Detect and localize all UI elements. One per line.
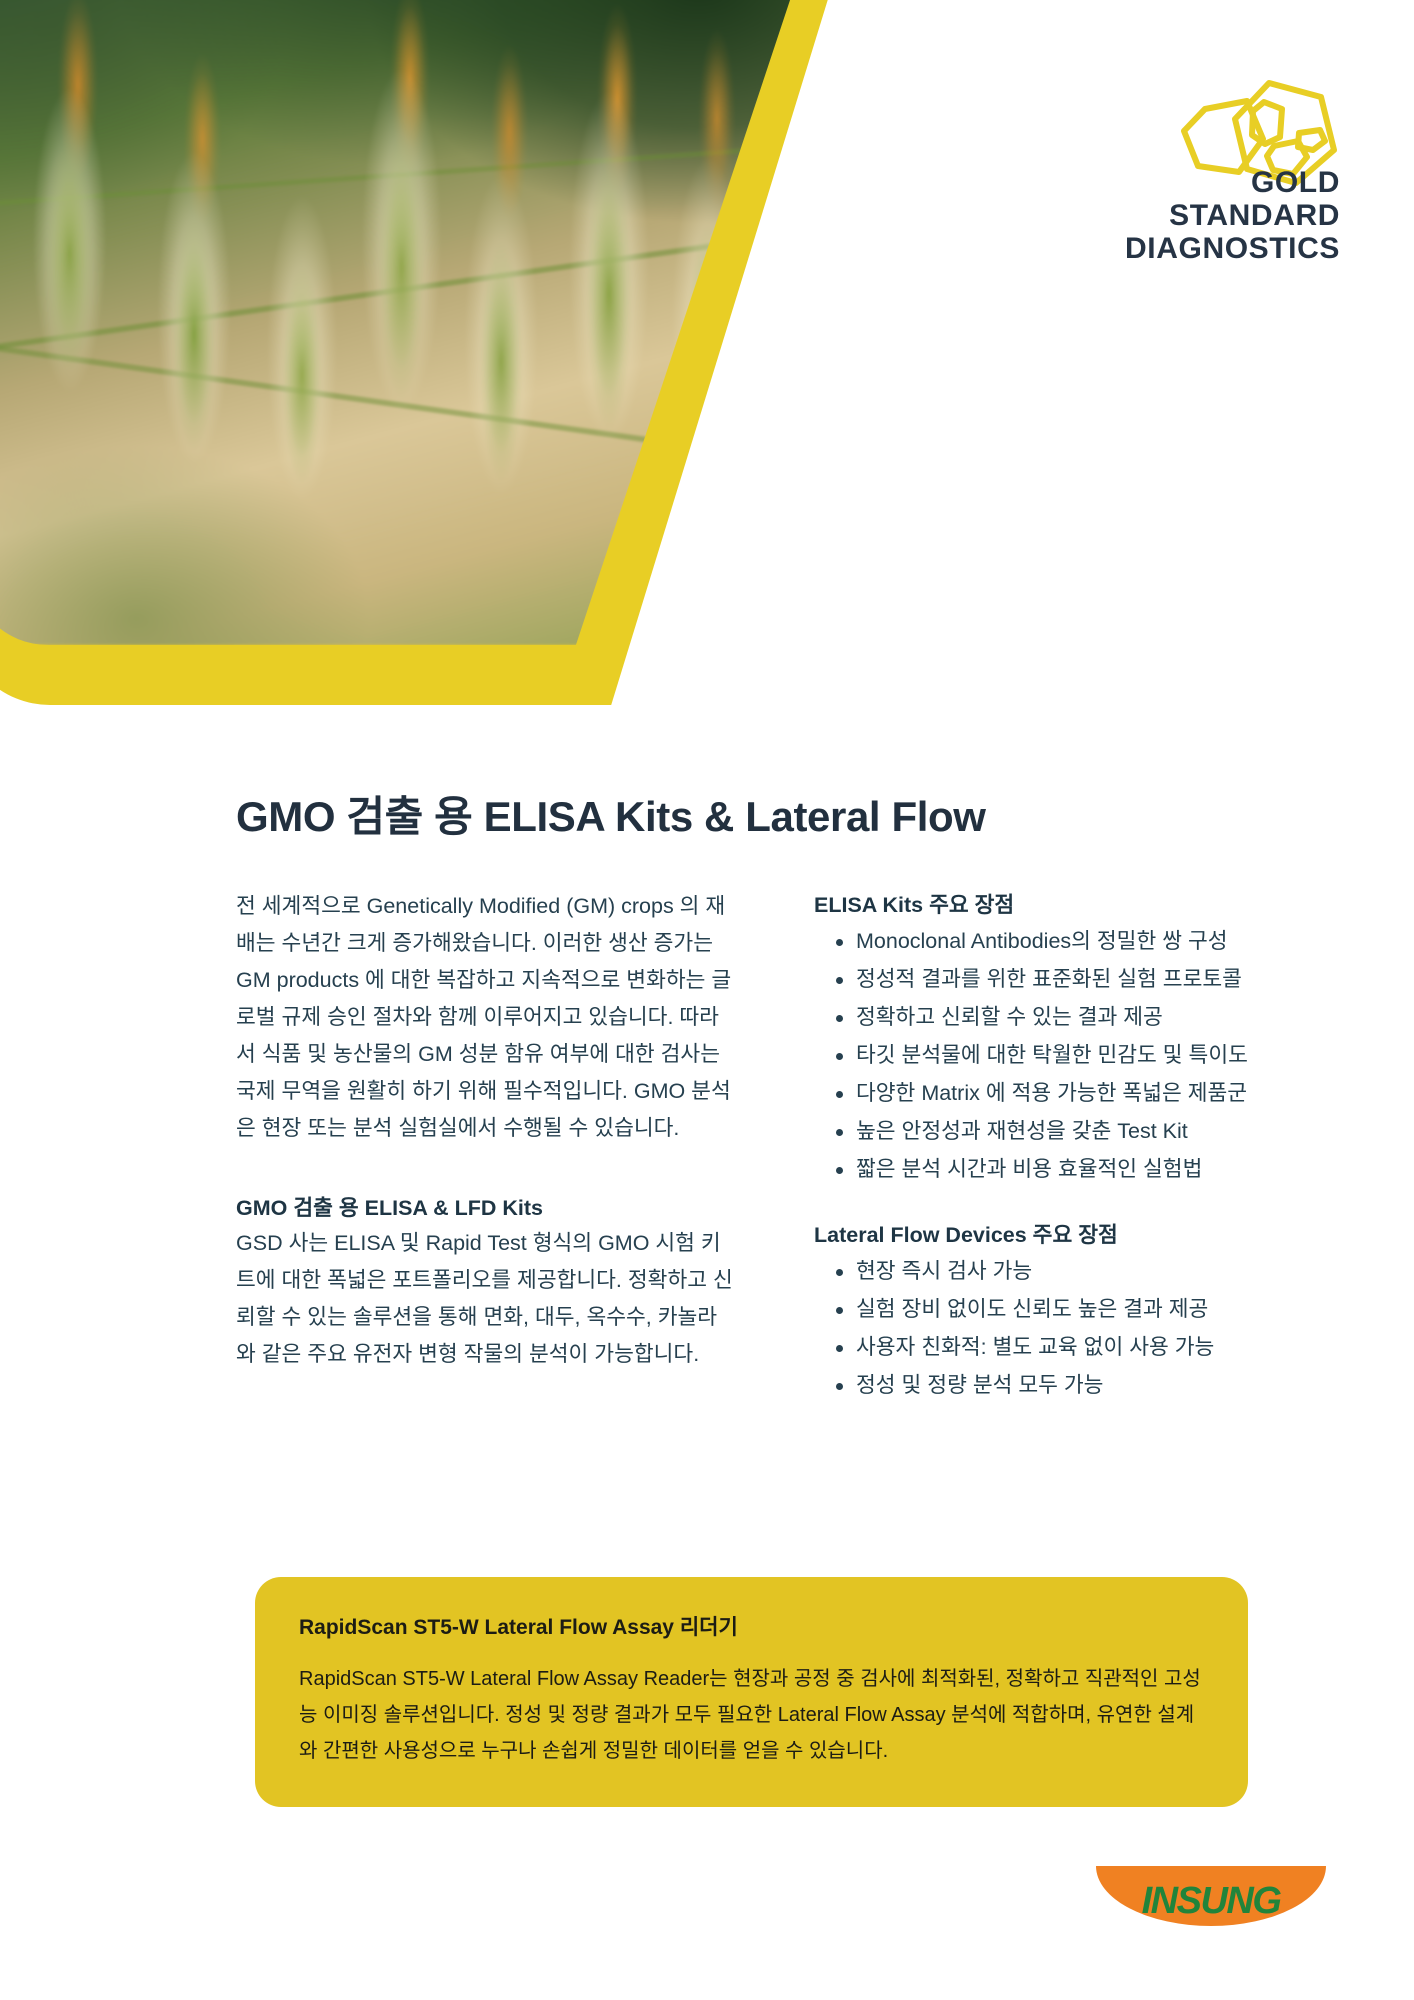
list-item: 다양한 Matrix 에 적용 가능한 폭넓은 제품군 bbox=[814, 1074, 1326, 1112]
hero-banner bbox=[0, 0, 900, 705]
list-item: 사용자 친화적: 별도 교육 없이 사용 가능 bbox=[814, 1328, 1326, 1366]
foxtail-grass-photo bbox=[0, 0, 800, 645]
list-item: 현장 즉시 검사 가능 bbox=[814, 1252, 1326, 1290]
gsd-logo-wordmark: GOLD STANDARD DIAGNOSTICS bbox=[1080, 166, 1340, 265]
list-item: 타깃 분석물에 대한 탁월한 민감도 및 특이도 bbox=[814, 1036, 1326, 1074]
lateral-flow-benefits-heading: Lateral Flow Devices 주요 장점 bbox=[814, 1218, 1326, 1249]
right-column: ELISA Kits 주요 장점 Monoclonal Antibodies의 … bbox=[814, 888, 1326, 1404]
list-item: 높은 안정성과 재현성을 갖춘 Test Kit bbox=[814, 1112, 1326, 1150]
list-item: 실험 장비 없이도 신뢰도 높은 결과 제공 bbox=[814, 1290, 1326, 1328]
elisa-lfd-kits-paragraph: GSD 사는 ELISA 및 Rapid Test 형식의 GMO 시험 키트에… bbox=[236, 1225, 736, 1373]
hero-photo-frame bbox=[0, 0, 800, 645]
content-columns: 전 세계적으로 Genetically Modified (GM) crops … bbox=[236, 888, 1326, 1404]
insung-logo: INSUNG bbox=[1096, 1866, 1326, 1952]
logo-line-3: DIAGNOSTICS bbox=[1080, 232, 1340, 265]
list-item: Monoclonal Antibodies의 정밀한 쌍 구성 bbox=[814, 922, 1326, 960]
list-item: 정성적 결과를 위한 표준화된 실험 프로토콜 bbox=[814, 960, 1326, 998]
callout-body: RapidScan ST5-W Lateral Flow Assay Reade… bbox=[299, 1661, 1204, 1769]
lateral-flow-benefits-list: 현장 즉시 검사 가능 실험 장비 없이도 신뢰도 높은 결과 제공 사용자 친… bbox=[814, 1252, 1326, 1404]
intro-paragraph: 전 세계적으로 Genetically Modified (GM) crops … bbox=[236, 888, 736, 1147]
gold-standard-diagnostics-logo: GOLD STANDARD DIAGNOSTICS bbox=[1080, 78, 1340, 258]
elisa-benefits-list: Monoclonal Antibodies의 정밀한 쌍 구성 정성적 결과를 … bbox=[814, 922, 1326, 1188]
rapidscan-callout-box: RapidScan ST5-W Lateral Flow Assay 리더기 R… bbox=[255, 1577, 1248, 1807]
insung-wordmark: INSUNG bbox=[1096, 1880, 1326, 1923]
logo-line-2: STANDARD bbox=[1080, 199, 1340, 232]
elisa-lfd-kits-heading: GMO 검출 용 ELISA & LFD Kits bbox=[236, 1191, 736, 1222]
elisa-benefits-heading: ELISA Kits 주요 장점 bbox=[814, 888, 1326, 919]
list-item: 짧은 분석 시간과 비용 효율적인 실험법 bbox=[814, 1150, 1326, 1188]
logo-line-1: GOLD bbox=[1080, 166, 1340, 199]
callout-title: RapidScan ST5-W Lateral Flow Assay 리더기 bbox=[299, 1611, 1204, 1641]
list-item: 정성 및 정량 분석 모두 가능 bbox=[814, 1366, 1326, 1404]
poster-page: GOLD STANDARD DIAGNOSTICS GMO 검출 용 ELISA… bbox=[0, 0, 1414, 2000]
page-title: GMO 검출 용 ELISA Kits & Lateral Flow bbox=[236, 783, 1236, 844]
spacer bbox=[814, 1188, 1326, 1218]
left-column: 전 세계적으로 Genetically Modified (GM) crops … bbox=[236, 888, 736, 1404]
list-item: 정확하고 신뢰할 수 있는 결과 제공 bbox=[814, 998, 1326, 1036]
spacer bbox=[236, 1147, 736, 1191]
